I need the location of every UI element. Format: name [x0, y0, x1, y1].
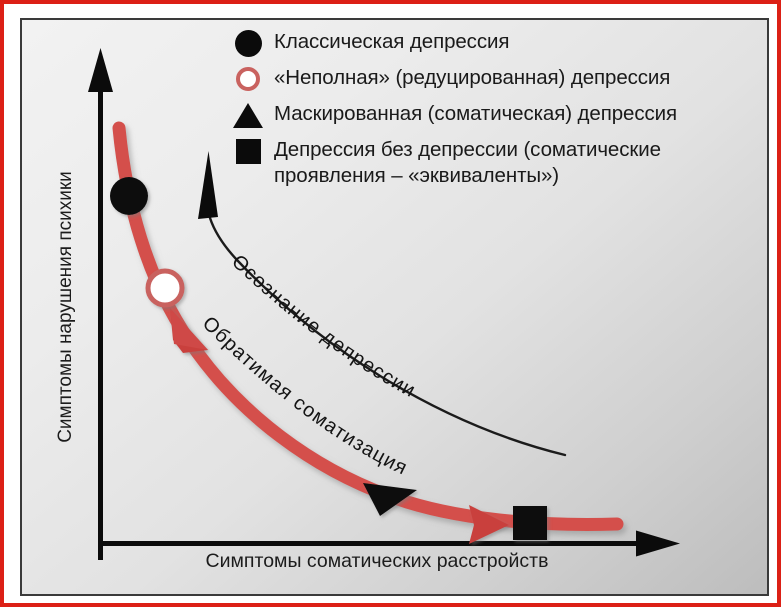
- legend-item-without-depression[interactable]: Депрессия без депрессии (соматические пр…: [228, 134, 758, 189]
- diagram-frame: Осознание депрессии Обратимая соматизаци…: [20, 18, 769, 596]
- diagram-stage: Осознание депрессии Обратимая соматизаци…: [22, 20, 767, 594]
- y-axis-label: Симптомы нарушения психики: [55, 167, 77, 447]
- legend: Классическая депрессия «Неполная» (редуц…: [228, 26, 758, 191]
- legend-item-label: Депрессия без депрессии (соматические пр…: [274, 134, 661, 189]
- marker-depression-without-depression: [513, 506, 547, 540]
- filled-triangle-marker-icon: [228, 98, 268, 132]
- marker-classic-depression: [110, 177, 148, 215]
- x-axis-label: Симптомы соматических расстройств: [152, 550, 602, 573]
- red-arrow-right-icon: [469, 505, 509, 544]
- open-circle-marker-icon: [228, 62, 268, 96]
- legend-item-incomplete[interactable]: «Неполная» (редуцированная) депрессия: [228, 62, 758, 96]
- legend-item-label: «Неполная» (редуцированная) депрессия: [274, 62, 670, 91]
- legend-item-masked[interactable]: Маскированная (соматическая) депрессия: [228, 98, 758, 132]
- diagram-root: Осознание депрессии Обратимая соматизаци…: [0, 0, 781, 607]
- marker-incomplete-depression: [148, 271, 182, 305]
- filled-circle-marker-icon: [228, 26, 268, 60]
- legend-item-classic[interactable]: Классическая депрессия: [228, 26, 758, 60]
- legend-item-label: Классическая депрессия: [274, 26, 509, 55]
- legend-item-label: Маскированная (соматическая) депрессия: [274, 98, 677, 127]
- filled-square-marker-icon: [228, 134, 268, 168]
- y-axis: [88, 48, 113, 560]
